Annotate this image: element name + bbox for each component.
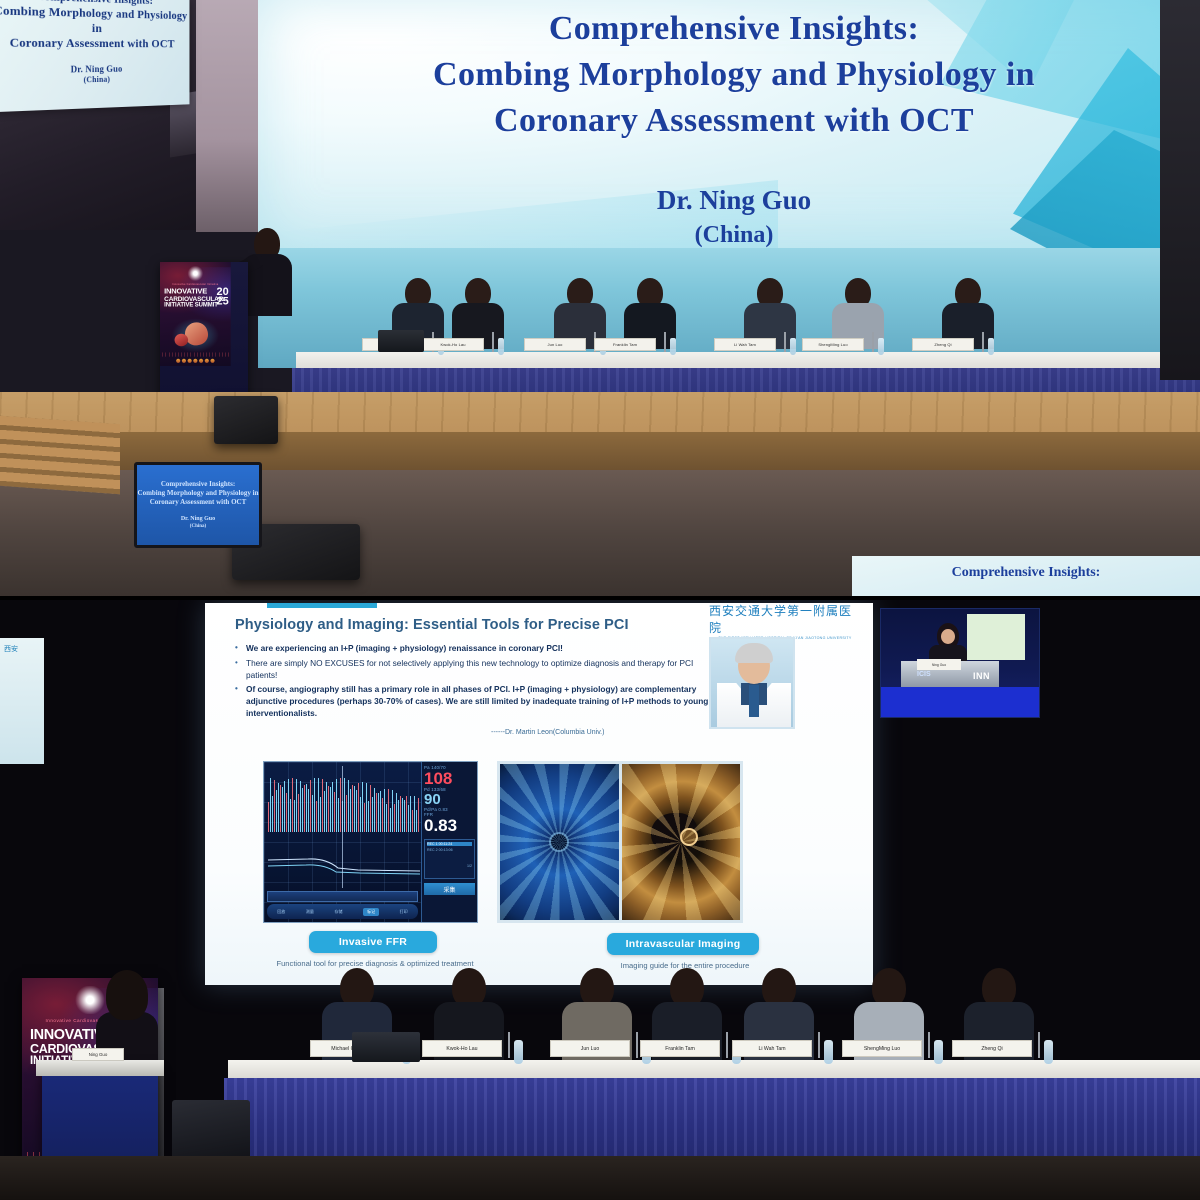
waveform-bar (272, 796, 273, 832)
waveform-bar (386, 804, 387, 832)
waveform-bar (300, 781, 301, 832)
waveform-bar (404, 800, 405, 832)
oct-cross-section-image (622, 764, 741, 920)
podium-bottom (42, 1068, 158, 1164)
slide-title-line1: Comprehensive Insights: (258, 6, 1200, 52)
left-edge-screen-text: 西安 (4, 644, 40, 654)
waveform-bar (332, 782, 333, 832)
confidence-line1: Comprehensive Insights: (161, 480, 235, 489)
nameplate: ShengMing Luo (802, 338, 864, 351)
recording-list-item[interactable]: REC 2 00:13:06 (427, 848, 472, 852)
banner-emblem-icon (187, 266, 204, 281)
waveform-bar (356, 790, 357, 832)
ffr-pressure-trace: 回放测量存储标记打印 (264, 762, 421, 922)
nameplate: ShengMing Luo (842, 1040, 922, 1057)
pressure-waveform (268, 776, 420, 832)
waveform-bar (334, 792, 335, 832)
waveform-bar (304, 785, 305, 832)
water-bottle (790, 338, 796, 355)
microphone (726, 1032, 728, 1058)
side-screen-country: (China) (0, 74, 189, 88)
waveform-bar (348, 780, 349, 832)
side-screen-title-line3: Coronary Assessment with OCT (0, 34, 189, 50)
nameplate: Jun Luo (524, 338, 586, 351)
recording-list[interactable]: REC 1 00:11:24REC 2 00:13:061/2 (424, 839, 475, 879)
nameplate: Zheng Qi (912, 338, 974, 351)
waveform-bar (340, 778, 341, 832)
podium-surface (36, 1060, 164, 1076)
microphone (818, 1032, 820, 1058)
waveform-bar (278, 783, 279, 832)
ffr-control-button-5[interactable]: 打印 (400, 909, 408, 915)
water-bottle (498, 338, 504, 355)
recording-list-item[interactable]: REC 1 00:11:24 (427, 842, 472, 846)
waveform-bar (350, 789, 351, 832)
nameplate: Kwok-Ho Lau (422, 338, 484, 351)
waveform-bar (344, 778, 345, 832)
waveform-bar (288, 779, 289, 832)
ffr-acquire-button[interactable]: 采集 (424, 883, 475, 895)
waveform-bar (312, 795, 313, 832)
waveform-bar (280, 785, 281, 832)
laptop (352, 1032, 420, 1062)
waveform-bar (274, 780, 275, 832)
microphone (982, 332, 984, 352)
speaker-video-feed: Ning Guo ICIS INN (880, 608, 1040, 718)
slide-speaker-country: (China) (258, 222, 1200, 249)
podium-banner-year-bottom: 25 (216, 297, 228, 307)
nameplate: Li Wah Tam (714, 338, 776, 351)
waveform-bar (374, 788, 375, 832)
waveform-bar (358, 783, 359, 832)
waveform-bar (354, 786, 355, 832)
nameplate: Franklin Tam (640, 1040, 720, 1057)
waveform-bar (378, 793, 379, 832)
microphone (492, 332, 494, 352)
waveform-bar (330, 787, 331, 832)
right-side-monitor: Comprehensive Insights: (852, 556, 1200, 598)
waveform-bar (392, 790, 393, 832)
waveform-bar (400, 796, 401, 832)
ecg-line-icon (160, 352, 231, 356)
foreground-floor (0, 1156, 1200, 1200)
nameplate: Jun Luo (550, 1040, 630, 1057)
waveform-bar (362, 782, 363, 832)
waveform-bar (296, 779, 297, 832)
stage-steps (0, 416, 120, 494)
slide-speaker-name: Dr. Ning Guo (258, 185, 1200, 216)
right-monitor-text: Comprehensive Insights: (852, 565, 1200, 581)
ffr-readout-column: Pa 140/70 108 Pd 133/68 90 Pd/Pa 0.83 FF… (421, 762, 477, 922)
pd-value: 90 (424, 792, 475, 807)
trace-control-bar[interactable] (267, 891, 418, 902)
badge-invasive-ffr: Invasive FFR (309, 931, 437, 953)
ffr-value: 0.83 (424, 817, 475, 834)
water-bottle (988, 338, 994, 355)
waveform-bar (292, 778, 293, 832)
slide-bullet-1: We are experiencing an I+P (imaging + ph… (235, 643, 719, 655)
ffr-control-button-4[interactable]: 标记 (363, 908, 379, 916)
waveform-bar (370, 785, 371, 832)
podium-nameplate: Ning Guo (72, 1048, 124, 1061)
slide-title-line3: Coronary Assessment with OCT (258, 98, 1200, 144)
waveform-bar (306, 784, 307, 832)
waveform-bar (324, 791, 325, 832)
waveform-bar (320, 797, 321, 832)
side-screen-title-line2: Combing Morphology and Physiology in (0, 3, 189, 37)
waveform-bar (364, 803, 365, 832)
microphone (664, 332, 666, 352)
ffr-control-button-1[interactable]: 回放 (277, 909, 285, 915)
pip-nameplate: Ning Guo (917, 659, 961, 670)
waveform-bar (322, 779, 323, 832)
main-projection-screen: Comprehensive Insights: Combing Morpholo… (258, 0, 1200, 250)
waveform-bar (308, 789, 309, 832)
microphone (636, 1032, 638, 1058)
slide-heading: Physiology and Imaging: Essential Tools … (235, 617, 629, 633)
slide-title-line2: Combing Morphology and Physiology in (258, 52, 1200, 98)
pd-pa-ratio-curve (268, 848, 420, 882)
waveform-bar (284, 781, 285, 832)
pa-value: 108 (424, 770, 475, 787)
microphone (928, 1032, 930, 1058)
waveform-bar (276, 790, 277, 832)
water-bottle (878, 338, 884, 355)
waveform-bar (268, 802, 269, 832)
slide-accent-bar (267, 603, 377, 608)
waveform-bar (410, 796, 411, 832)
slide-attribution: ------Dr. Martin Leon(Columbia Univ.) (491, 729, 604, 736)
waveform-bar (368, 801, 369, 832)
waveform-bar (418, 798, 419, 832)
waveform-bar (390, 808, 391, 832)
waveform-bar (302, 788, 303, 832)
stage-monitor-speaker-1 (214, 396, 278, 444)
confidence-speaker: Dr. Ning Guo (181, 516, 215, 524)
water-bottle (1044, 1040, 1053, 1064)
pip-background-screen (967, 614, 1025, 660)
presentation-slide: Physiology and Imaging: Essential Tools … (205, 603, 873, 985)
confidence-monitor: Comprehensive Insights: Combing Morpholo… (134, 462, 262, 548)
waveform-bar (314, 778, 315, 832)
waveform-bar (402, 798, 403, 832)
waveform-bar (286, 793, 287, 832)
slide-bullet-3: Of course, angiography still has a prima… (235, 684, 719, 719)
nameplate: Franklin Tam (594, 338, 656, 351)
heart-graphic-icon (171, 318, 219, 352)
waveform-bar (316, 801, 317, 832)
waveform-bar (412, 810, 413, 832)
waveform-bar (328, 786, 329, 832)
waveform-bar (282, 787, 283, 832)
floor-monitor (172, 1100, 250, 1164)
laptop (378, 330, 424, 352)
podium-top: Innovative Cardiovascular Initiative INN… (160, 262, 248, 412)
microphone (872, 332, 874, 352)
waveform-bar (414, 796, 415, 832)
waveform-bar (270, 778, 271, 832)
water-bottle (670, 338, 676, 355)
hospital-logo: 西安交通大学第一附属医院 THE FIRST AFFILIATED HOSPIT… (709, 608, 861, 634)
waveform-bar (310, 780, 311, 832)
slide-bullet-list: We are experiencing an I+P (imaging + ph… (235, 643, 719, 723)
waveform-bar (396, 793, 397, 832)
water-bottle (934, 1040, 943, 1064)
microphone (508, 1032, 510, 1058)
waveform-bar (382, 798, 383, 832)
waveform-bar (406, 796, 407, 832)
side-projection-screen: Comprehensive Insights: Combing Morpholo… (0, 0, 189, 112)
waveform-bar (346, 795, 347, 832)
waveform-bar (408, 805, 409, 832)
waveform-bar (326, 782, 327, 832)
bottom-photo: 西安 Physiology and Imaging: Essential Too… (0, 600, 1200, 1200)
badge-intravascular-imaging: Intravascular Imaging (607, 933, 759, 955)
hospital-logo-cn: 西安交通大学第一附属医院 (709, 603, 861, 636)
ffr-button-bar[interactable]: 回放测量存储标记打印 (267, 904, 418, 919)
trace-cursor[interactable] (342, 766, 343, 888)
pip-banner-text: INN (973, 671, 990, 681)
nameplate: Kwok-Ho Lau (422, 1040, 502, 1057)
waveform-bar (360, 797, 361, 832)
water-bottle (514, 1040, 523, 1064)
slide-bullet-2: There are simply NO EXCUSES for not sele… (235, 658, 719, 682)
ffr-monitor-panel: 回放测量存储标记打印 Pa 140/70 108 Pd 133/68 90 Pd… (263, 761, 478, 923)
waveform-bar (384, 789, 385, 832)
pip-logo-text: ICIS (917, 671, 931, 678)
waveform-bar (366, 783, 367, 832)
ivus-cross-section-image (500, 764, 619, 920)
waveform-bar (336, 779, 337, 832)
confidence-line3: Coronary Assessment with OCT (150, 498, 247, 507)
intravascular-images (497, 761, 743, 923)
waveform-bar (394, 804, 395, 832)
waveform-bar (338, 798, 339, 832)
waveform-bar (376, 793, 377, 832)
confidence-line2: Combing Morphology and Physiology in (138, 489, 259, 498)
water-bottle (824, 1040, 833, 1064)
waveform-bar (294, 800, 295, 832)
left-wall (196, 0, 266, 232)
waveform-bar (398, 800, 399, 832)
waveform-bar (352, 785, 353, 832)
waveform-bar (290, 799, 291, 832)
microphone (1038, 1032, 1040, 1058)
recording-list-note: 1/2 (427, 864, 472, 868)
portrait-photo (709, 637, 795, 729)
waveform-bar (298, 794, 299, 832)
left-edge-screen: 西安 (0, 638, 44, 764)
ffr-control-button-2[interactable]: 测量 (306, 909, 314, 915)
waveform-bar (318, 778, 319, 832)
nameplate: Zheng Qi (952, 1040, 1032, 1057)
nameplate: Li Wah Tam (732, 1040, 812, 1057)
microphone (784, 332, 786, 352)
waveform-bar (416, 810, 417, 832)
waveform-bar (372, 797, 373, 832)
waveform-bar (388, 789, 389, 832)
ffr-control-button-3[interactable]: 存储 (334, 909, 342, 915)
sponsor-icons (160, 359, 231, 363)
waveform-bar (380, 791, 381, 832)
confidence-country: (China) (190, 524, 206, 530)
photo-collage: Comprehensive Insights: Combing Morpholo… (0, 0, 1200, 1200)
top-photo: Comprehensive Insights: Combing Morpholo… (0, 0, 1200, 598)
